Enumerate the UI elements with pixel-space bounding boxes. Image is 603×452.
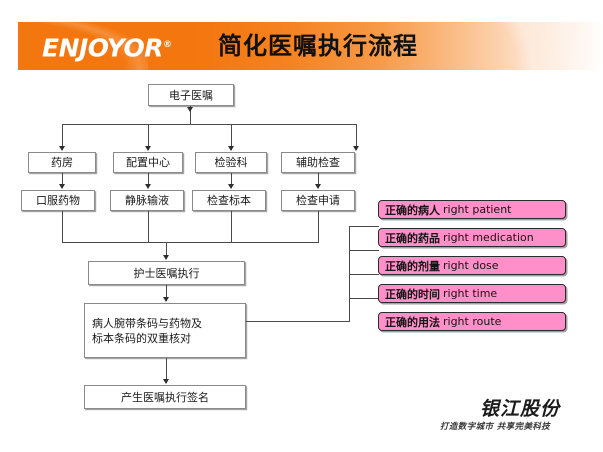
flow-box-dispensing-center: 配置中心 — [113, 152, 183, 173]
arrow-to-dept-2 — [145, 146, 151, 151]
flow-box-generate-signature: 产生医嘱执行签名 — [84, 385, 246, 409]
slide-header-banner: ENJOYOR® 简化医嘱执行流程 — [18, 22, 603, 70]
arrow-to-out-2 — [145, 184, 151, 189]
right-item-patient-cn: 正确的病人 — [385, 202, 440, 218]
arrow-to-out-1 — [59, 184, 65, 189]
arrow-to-dept-3 — [228, 146, 234, 151]
flow-box-oral-medication: 口服药物 — [21, 190, 95, 211]
connector-out4-down — [318, 211, 319, 242]
right-item-dose-en: right dose — [443, 259, 499, 272]
flow-box-exam-specimen-label: 检查标本 — [207, 193, 251, 208]
flow-box-electronic-order: 电子医嘱 — [148, 84, 234, 106]
right-item-time-en: right time — [443, 287, 497, 300]
connector-branch-right-4 — [349, 274, 379, 275]
enjoyor-logo-text: ENJOYOR — [42, 33, 163, 62]
connector-branch-right-5 — [349, 298, 379, 299]
flow-box-generate-signature-label: 产生医嘱执行签名 — [121, 390, 209, 405]
flow-box-iv-infusion: 静脉输液 — [110, 190, 184, 211]
connector-bus-level1 — [62, 124, 356, 125]
connector-branch-right-3 — [349, 250, 379, 251]
flow-box-dispensing-center-label: 配置中心 — [126, 155, 170, 170]
flow-box-electronic-order-label: 电子医嘱 — [169, 88, 213, 103]
company-brand: 银江股份 — [480, 394, 560, 421]
arrow-to-out-4 — [315, 184, 321, 189]
header-swoosh-decoration — [393, 22, 603, 70]
right-item-route-en: right route — [443, 315, 501, 328]
registered-trademark-icon: ® — [163, 40, 172, 50]
right-item-dose-cn: 正确的剂量 — [385, 258, 440, 274]
flow-box-oral-medication-label: 口服药物 — [36, 193, 80, 208]
flow-box-lab-department: 检验科 — [195, 152, 267, 173]
page-title: 简化医嘱执行流程 — [218, 31, 418, 61]
connector-branch-right-2 — [349, 226, 379, 227]
connector-out3-down — [231, 211, 232, 242]
right-item-time: 正确的时间 right time — [378, 284, 566, 303]
flow-box-exam-request-label: 检查申请 — [296, 193, 340, 208]
arrow-to-signature — [163, 379, 169, 384]
right-item-patient-en: right patient — [443, 203, 512, 216]
flow-box-double-check-line1: 病人腕带条码与药物及 — [92, 316, 202, 331]
flow-box-double-check: 病人腕带条码与药物及 标本条码的双重核对 — [84, 303, 246, 358]
arrow-to-double-check — [163, 297, 169, 302]
flow-box-pharmacy: 药房 — [28, 152, 96, 173]
connector-out1-down — [62, 211, 63, 242]
enjoyor-logo: ENJOYOR® — [42, 30, 171, 63]
slide-canvas: ENJOYOR® 简化医嘱执行流程 电子医嘱 药房 配置中心 检验科 辅助检查 … — [0, 0, 603, 452]
flow-box-double-check-line2: 标本条码的双重核对 — [92, 331, 202, 346]
arrow-to-dept-4 — [353, 146, 359, 151]
flow-box-iv-infusion-label: 静脉输液 — [125, 193, 169, 208]
arrow-to-dept-1 — [59, 146, 65, 151]
connector-check-to-rights — [246, 321, 350, 322]
right-item-time-cn: 正确的时间 — [385, 286, 440, 302]
arrow-root-to-bus — [187, 107, 193, 112]
connector-out2-down — [148, 211, 149, 242]
right-item-medication-en: right medication — [443, 231, 534, 244]
flow-box-exam-specimen: 检查标本 — [192, 190, 266, 211]
right-item-medication: 正确的药品 right medication — [378, 228, 566, 247]
right-item-route: 正确的用法 right route — [378, 312, 566, 331]
flow-box-nurse-execution-label: 护士医嘱执行 — [134, 266, 200, 281]
right-item-medication-cn: 正确的药品 — [385, 230, 440, 246]
right-item-route-cn: 正确的用法 — [385, 314, 440, 330]
right-item-dose: 正确的剂量 right dose — [378, 256, 566, 275]
arrow-to-nurse-exec — [163, 255, 169, 260]
flow-box-nurse-execution: 护士医嘱执行 — [88, 261, 245, 285]
flow-box-lab-department-label: 检验科 — [215, 155, 248, 170]
flow-box-auxiliary-exam-label: 辅助检查 — [296, 155, 340, 170]
arrow-to-out-3 — [228, 184, 234, 189]
right-item-patient: 正确的病人 right patient — [378, 200, 566, 219]
flow-box-pharmacy-label: 药房 — [51, 155, 73, 170]
flow-box-exam-request: 检查申请 — [281, 190, 355, 211]
flow-box-auxiliary-exam: 辅助检查 — [281, 152, 355, 173]
company-tagline: 打造数字城市 共享完美科技 — [440, 420, 550, 432]
connector-bus-merge — [62, 242, 319, 243]
